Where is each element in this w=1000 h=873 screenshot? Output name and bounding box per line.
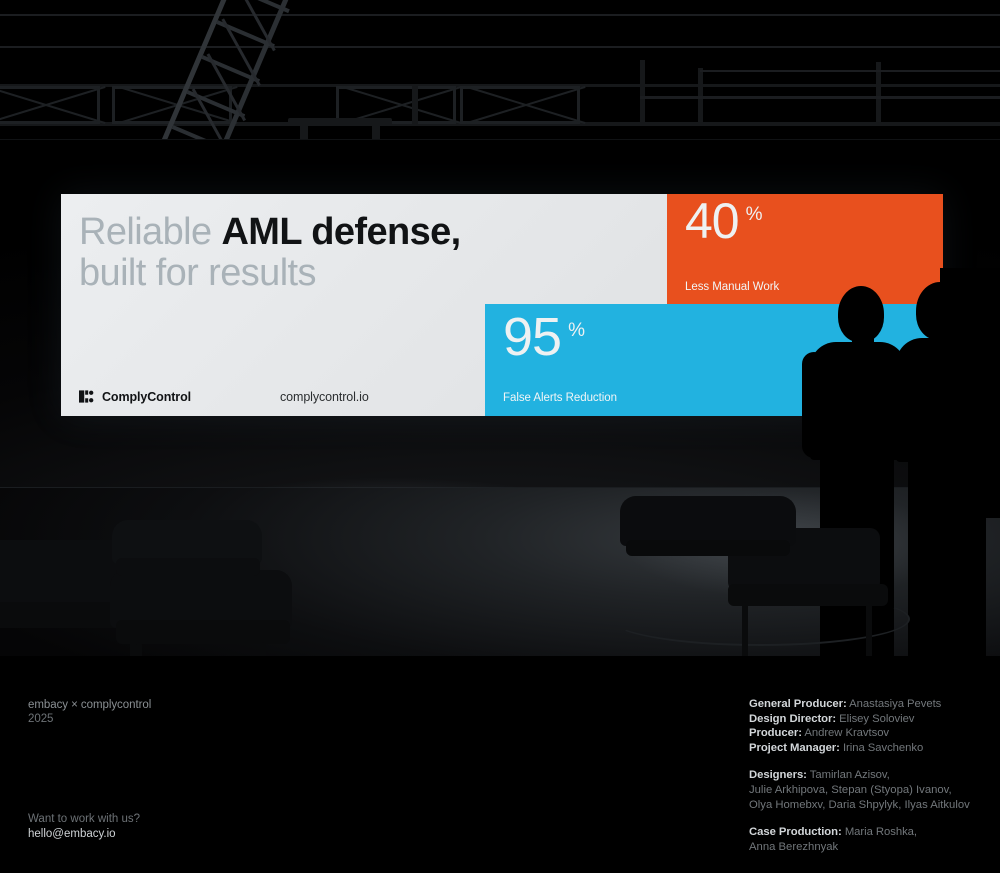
credits-section: embacy × complycontrol 2025 Want to work… xyxy=(0,656,1000,873)
credit-row: Design Director: Elisey Soloviev xyxy=(749,712,989,727)
credit-row: Case Production: Maria Roshka, xyxy=(749,825,989,840)
credit-group-designers: Designers: Tamirlan Azisov, Julie Arkhip… xyxy=(749,768,989,812)
contact-email[interactable]: hello@embacy.io xyxy=(28,827,140,842)
credit-role: Case Production: xyxy=(749,826,842,838)
stat-caption: Less Manual Work xyxy=(685,281,779,293)
credit-row: Producer: Andrew Kravtsov xyxy=(749,726,989,741)
complycontrol-logo-icon xyxy=(79,389,94,404)
credit-role: General Producer: xyxy=(749,698,847,710)
stat-value: 95% xyxy=(503,310,585,364)
contact-block: Want to work with us? hello@embacy.io xyxy=(28,812,140,842)
stat-unit: % xyxy=(568,320,585,341)
credit-continuation: Olya Homebxv, Daria Shpylyk, Ilyas Aitku… xyxy=(749,798,989,813)
credit-continuation: Anna Berezhnyak xyxy=(749,840,989,855)
ceiling-truss-rig xyxy=(0,0,1000,140)
credit-name: Anastasiya Pevets xyxy=(847,698,942,710)
stat-card-less-manual-work: 40% Less Manual Work xyxy=(667,194,943,304)
credit-role: Project Manager: xyxy=(749,742,840,754)
brand-name: ComplyControl xyxy=(102,390,191,404)
contact-question: Want to work with us? xyxy=(28,812,140,827)
stat-card-false-alerts-reduction: 95% False Alerts Reduction xyxy=(485,304,943,416)
credit-name: Irina Savchenko xyxy=(840,742,923,754)
project-identity: embacy × complycontrol 2025 xyxy=(28,698,151,727)
headline-emphasis: AML defense, xyxy=(221,211,460,253)
stat-unit: % xyxy=(746,204,763,225)
credit-row: General Producer: Anastasiya Pevets xyxy=(749,697,989,712)
credit-role: Producer: xyxy=(749,727,802,739)
headline-lead: Reliable xyxy=(79,211,221,253)
projected-slide: Reliable AML defense, built for results … xyxy=(61,194,943,416)
auditorium-scene: Reliable AML defense, built for results … xyxy=(0,0,1000,656)
credit-continuation: Julie Arkhipova, Stepan (Styopa) Ivanov, xyxy=(749,783,989,798)
project-year: 2025 xyxy=(28,712,151,726)
credit-row: Designers: Tamirlan Azisov, xyxy=(749,768,989,783)
credit-group-case-production: Case Production: Maria Roshka, Anna Bere… xyxy=(749,825,989,854)
headline-line-2: built for results xyxy=(79,253,679,294)
credits-list: General Producer: Anastasiya Pevets Desi… xyxy=(749,697,989,854)
credit-name: Tamirlan Azisov, xyxy=(807,769,890,781)
credit-name: Maria Roshka, xyxy=(842,826,917,838)
floor-light-pool xyxy=(560,470,1000,620)
presentation-case-slide: Reliable AML defense, built for results … xyxy=(0,0,1000,873)
credit-name: Andrew Kravtsov xyxy=(802,727,889,739)
credit-role: Designers: xyxy=(749,769,807,781)
stat-value: 40% xyxy=(685,196,763,246)
stat-caption: False Alerts Reduction xyxy=(503,392,617,404)
credit-role: Design Director: xyxy=(749,713,836,725)
credit-name: Elisey Soloviev xyxy=(836,713,914,725)
slide-headline: Reliable AML defense, built for results xyxy=(79,212,679,293)
brand-website: complycontrol.io xyxy=(280,390,369,404)
credit-row: Project Manager: Irina Savchenko xyxy=(749,741,989,756)
project-title: embacy × complycontrol xyxy=(28,698,151,712)
